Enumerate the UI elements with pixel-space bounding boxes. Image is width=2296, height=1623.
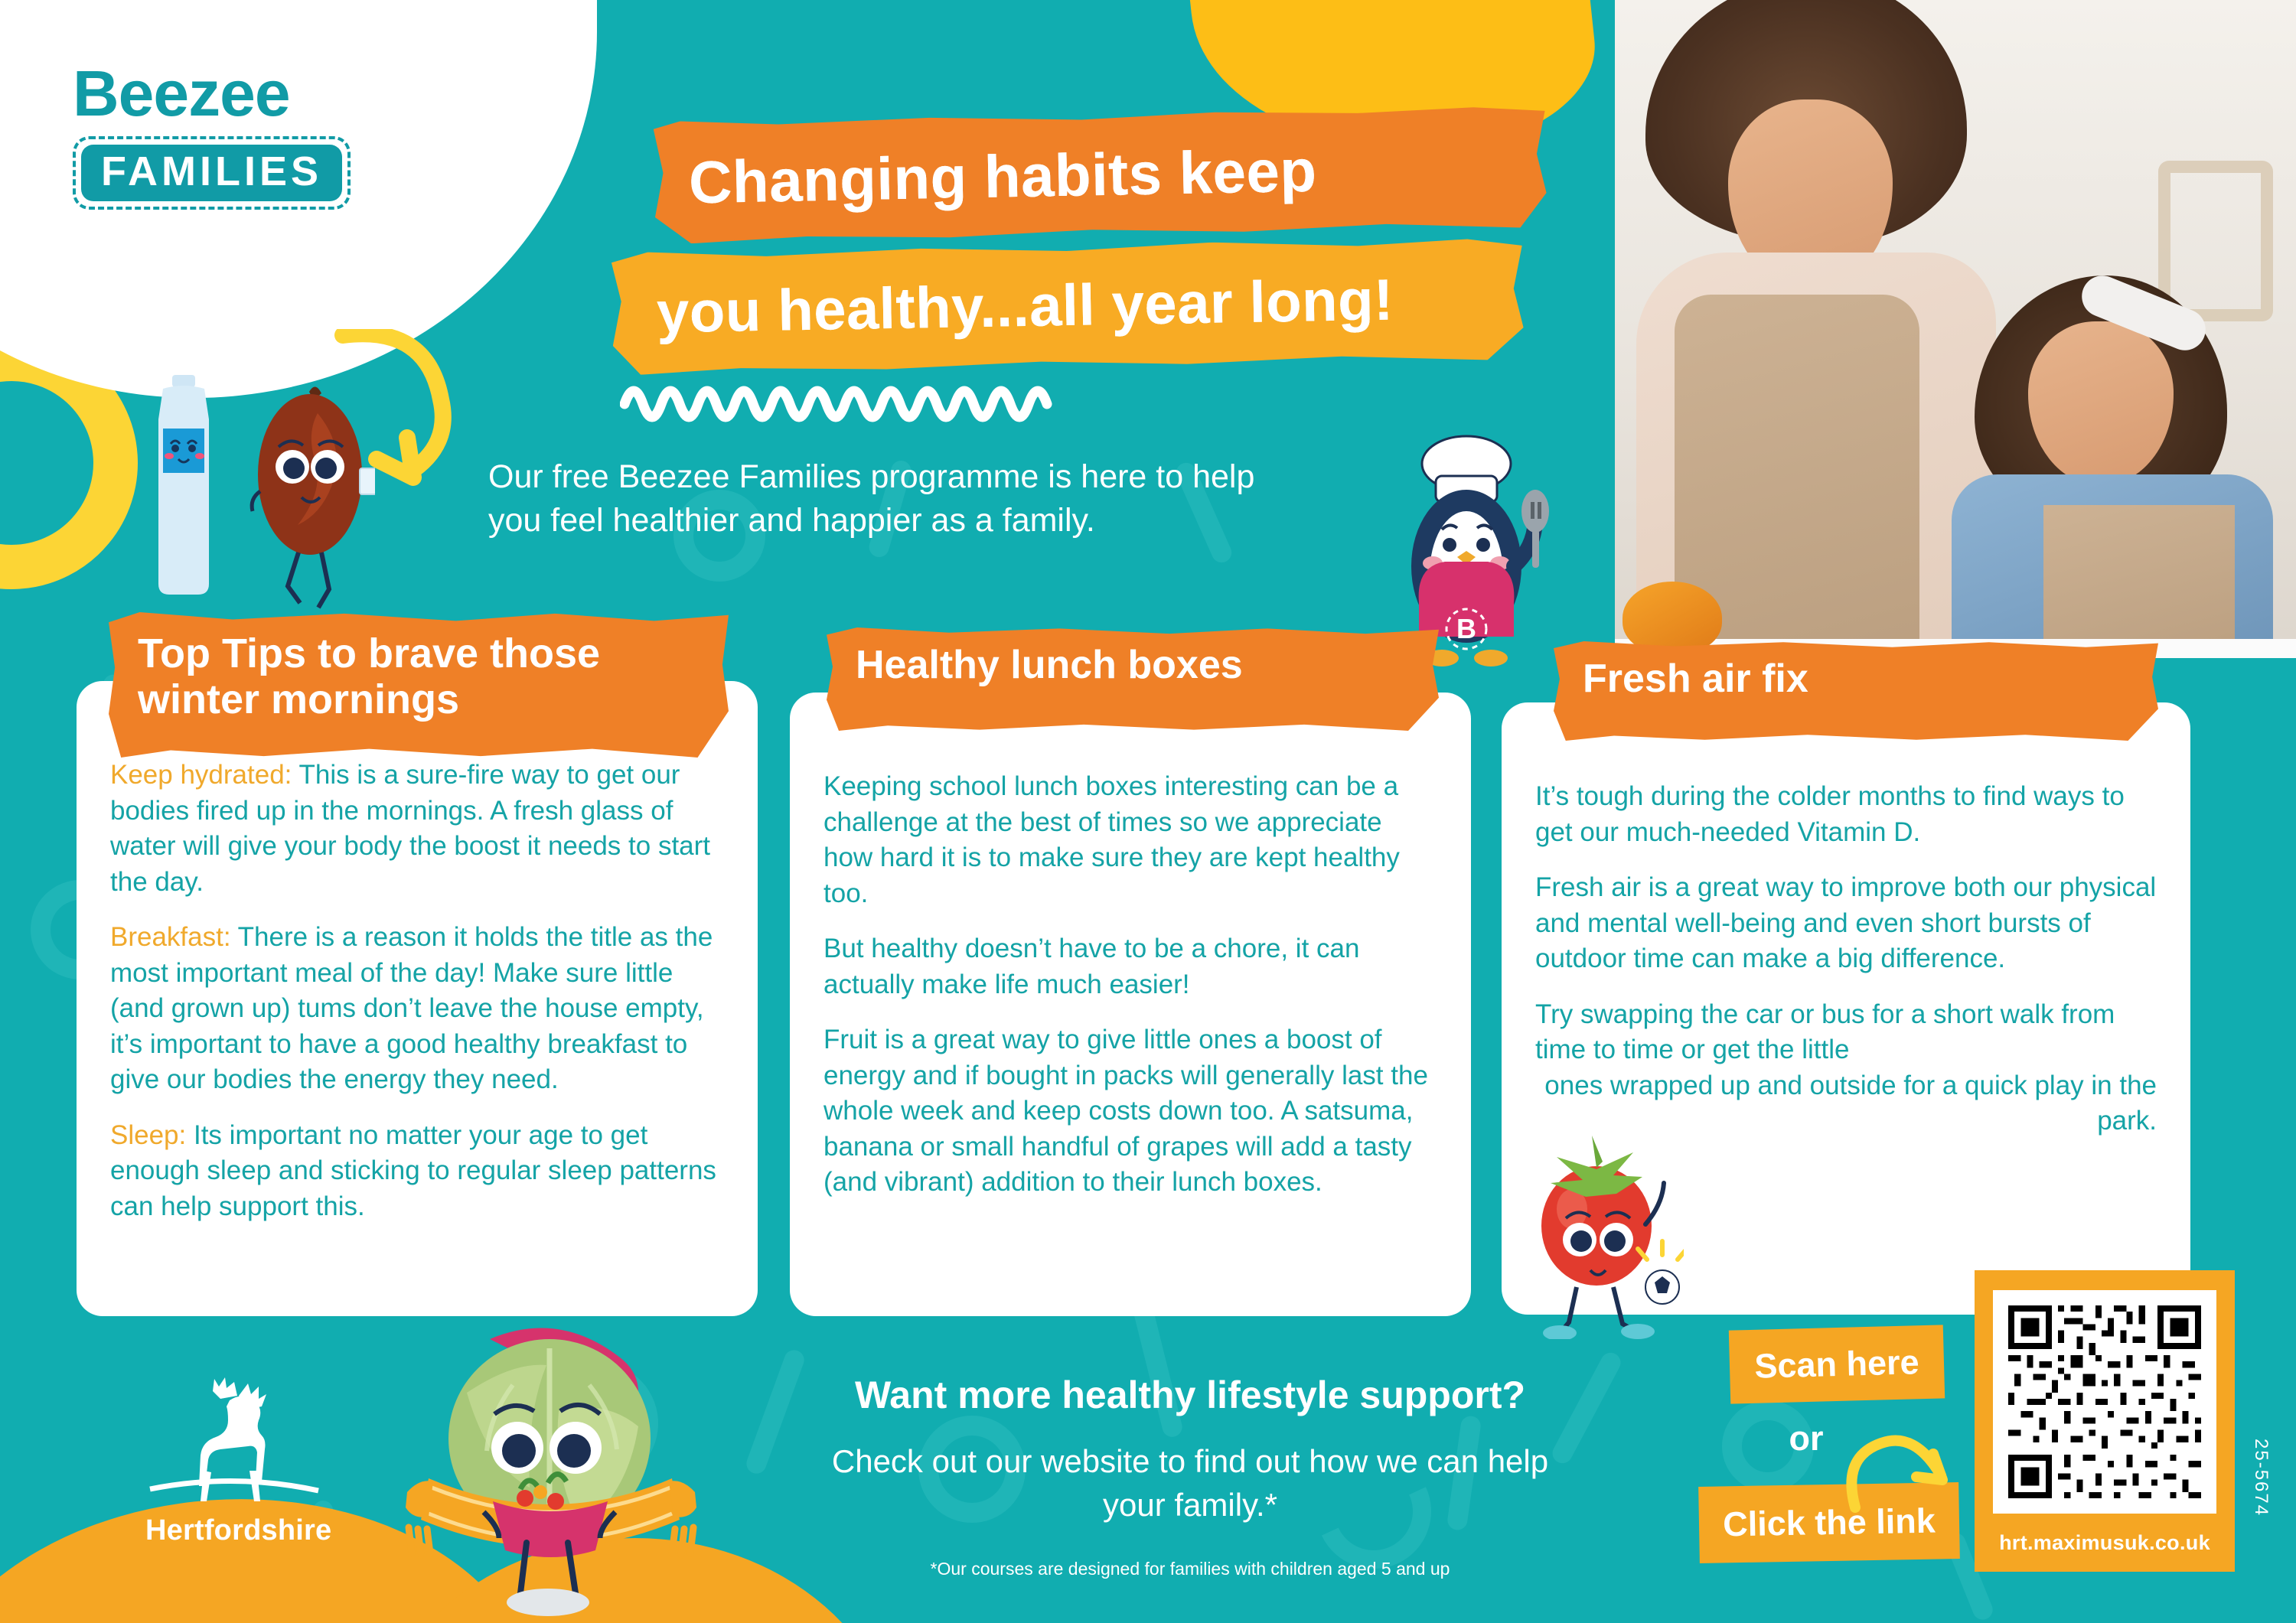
curved-arrow-icon (329, 329, 520, 497)
headline-banner-line2: you healthy...all year long! (612, 237, 1525, 376)
tips-card-lunch-boxes: Keeping school lunch boxes interesting c… (790, 693, 1471, 1316)
headline-line1-text: Changing habits keep (654, 141, 1317, 213)
card3-paragraph-2: Fresh air is a great way to improve both… (1535, 870, 2157, 977)
qr-code-panel[interactable]: hrt.maximusuk.co.uk (1975, 1270, 2235, 1572)
logo-families-badge: FAMILIES (73, 136, 351, 210)
family-cooking-photo (1615, 0, 2296, 658)
cabbage-character-icon (398, 1301, 704, 1622)
headline-banner-line1: Changing habits keep (654, 105, 1548, 244)
qr-url-label: hrt.maximusuk.co.uk (1993, 1531, 2216, 1555)
card1-paragraph-3: Sleep: Its important no matter your age … (110, 1118, 724, 1225)
penguin-badge-letter: B (1456, 613, 1476, 644)
card3-paragraph-3: Try swapping the car or bus for a short … (1535, 997, 2157, 1068)
cta-footnote: *Our courses are designed for families w… (827, 1559, 1554, 1579)
card3-paragraph-1: It’s tough during the colder months to f… (1535, 779, 2157, 850)
logo-wordmark-families: FAMILIES (81, 145, 342, 201)
intro-paragraph: Our free Beezee Families programme is he… (488, 455, 1315, 543)
hertfordshire-logo: Hertfordshire (145, 1377, 321, 1547)
card2-heading-banner: Healthy lunch boxes (827, 627, 1439, 731)
tomato-character-icon (1531, 1125, 1684, 1339)
stag-icon (145, 1377, 321, 1507)
card2-paragraph-3: Fruit is a great way to give little ones… (823, 1022, 1437, 1201)
water-bottle-character-icon (142, 375, 226, 597)
card1-lead-2: Breakfast: (110, 922, 231, 952)
footer-cta-block: Want more healthy lifestyle support? Che… (827, 1374, 1554, 1579)
card3-heading-banner: Fresh air fix (1554, 641, 2158, 741)
headline-line2-text: you healthy...all year long! (612, 272, 1394, 344)
card1-lead-1: Keep hydrated: (110, 760, 292, 790)
hertfordshire-logo-text: Hertfordshire (145, 1514, 321, 1547)
poster-canvas: Beezee FAMILIES Changing habits keep you… (0, 0, 2296, 1623)
card2-paragraph-1: Keeping school lunch boxes interesting c… (823, 769, 1437, 911)
qr-code-image[interactable] (1993, 1290, 2216, 1514)
brand-logo: Beezee FAMILIES (73, 61, 394, 210)
squiggle-underline-decoration (620, 370, 1094, 424)
cta-heading: Want more healthy lifestyle support? (827, 1374, 1554, 1418)
card2-paragraph-2: But healthy doesn’t have to be a chore, … (823, 931, 1437, 1002)
card1-paragraph-2: Breakfast: There is a reason it holds th… (110, 920, 724, 1098)
tips-card-winter-mornings: Keep hydrated: This is a sure-fire way t… (77, 681, 758, 1316)
card1-text-3: Its important no matter your age to get … (110, 1120, 716, 1221)
logo-wordmark-beezee: Beezee (73, 61, 394, 125)
cta-subtext: Check out our website to find out how we… (827, 1439, 1554, 1527)
reference-code: 25-5674 (2250, 1439, 2272, 1517)
card1-heading-banner: Top Tips to brave those winter mornings (109, 612, 729, 758)
card1-lead-3: Sleep: (110, 1120, 186, 1150)
card1-paragraph-1: Keep hydrated: This is a sure-fire way t… (110, 758, 724, 900)
